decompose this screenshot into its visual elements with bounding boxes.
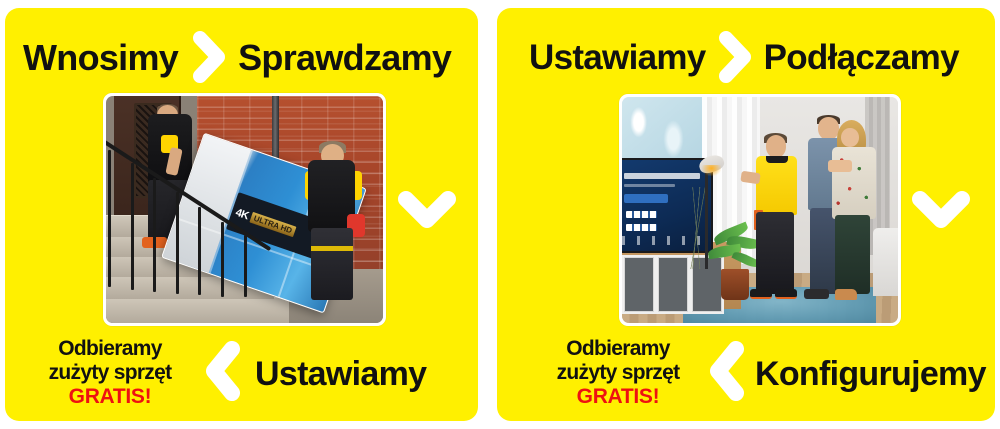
panel-left-photo-frame: 4K ULTRA HD (103, 93, 386, 326)
panel-left-note-highlight: GRATIS! (21, 385, 199, 409)
panel-right-note-line-2: zużyty sprzęt (529, 361, 707, 385)
chevron-down-icon (911, 190, 971, 236)
photo-delivery-carrying-tv: 4K ULTRA HD (106, 96, 383, 323)
photo-handrail (106, 137, 289, 300)
photo-livingroom-installation (622, 97, 898, 323)
panel-right-note-line-1: Odbieramy (529, 337, 707, 361)
panel-right-heading-first: Ustawiamy (529, 38, 706, 78)
chevron-right-icon (718, 31, 754, 83)
service-step-panel-left: Wnosimy Sprawdzamy (5, 8, 478, 421)
panel-left-footer-label: Ustawiamy (255, 355, 426, 394)
panel-left-note-line-2: zużyty sprzęt (21, 361, 199, 385)
chevron-right-icon (192, 31, 228, 83)
panel-right-heading-second: Podłączamy (764, 38, 959, 78)
panel-left-heading-second: Sprawdzamy (238, 37, 451, 79)
panel-left-footer-note: Odbieramy zużyty sprzęt GRATIS! (21, 337, 199, 409)
chevron-left-icon (201, 340, 245, 402)
panel-right-photo-frame (619, 94, 901, 326)
panel-left-heading-first: Wnosimy (23, 37, 178, 79)
panel-right-footer-label: Konfigurujemy (755, 355, 986, 394)
panel-right-footer-note: Odbieramy zużyty sprzęt GRATIS! (529, 337, 707, 409)
promo-graphic: Wnosimy Sprawdzamy (0, 0, 1000, 429)
panel-right-heading: Ustawiamy Podłączamy (529, 30, 979, 86)
panel-right-note-highlight: GRATIS! (529, 385, 707, 409)
panel-left-note-line-1: Odbieramy (21, 337, 199, 361)
chevron-left-icon (705, 340, 749, 402)
panel-left-heading: Wnosimy Sprawdzamy (23, 30, 463, 86)
chevron-down-icon (397, 190, 457, 236)
service-step-panel-right: Ustawiamy Podłączamy (497, 8, 995, 421)
